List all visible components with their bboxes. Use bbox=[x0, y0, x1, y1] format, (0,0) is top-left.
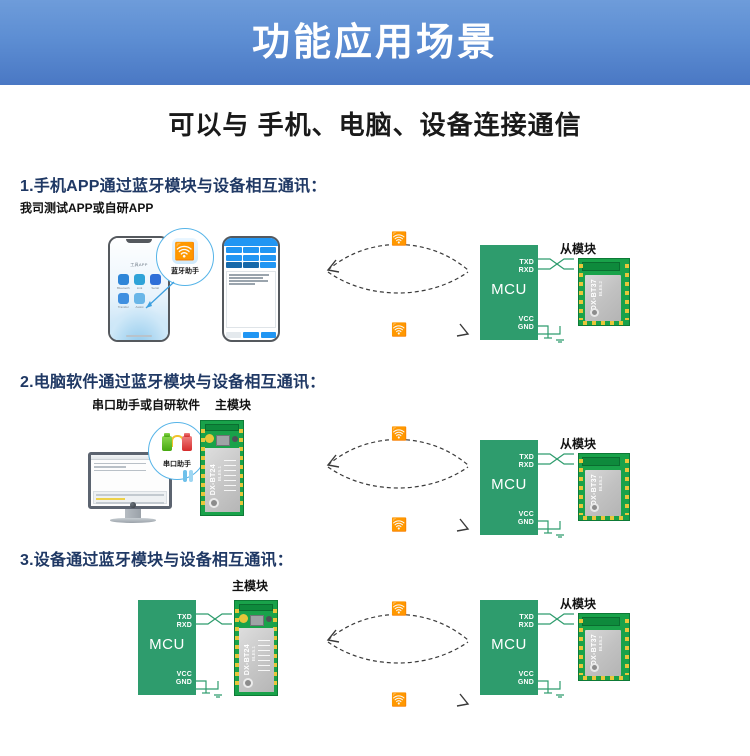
mcu-pin-txd: TXD bbox=[519, 614, 534, 622]
section-1-heading: 1.手机APP通过蓝牙模块与设备相互通讯： bbox=[20, 172, 326, 196]
mcu-pin-gnd: GND bbox=[518, 324, 534, 332]
phone-app-button[interactable] bbox=[226, 262, 242, 268]
mcu-block-3-left: MCU TXD RXD VCC GND bbox=[138, 600, 196, 695]
page-title: 功能应用场景 bbox=[252, 24, 498, 62]
module-shield-can: DX-BT37 BLE5.2 bbox=[585, 470, 621, 516]
app-tile-icon bbox=[118, 293, 129, 304]
phone-app-button[interactable] bbox=[243, 255, 259, 261]
phone-app-header-bar bbox=[224, 238, 278, 246]
ble-module-dx-bt37: DX-BT37 BLE5.2 bbox=[578, 258, 630, 326]
log-line bbox=[229, 280, 268, 282]
module-ble-version: BLE5.2 bbox=[598, 281, 603, 296]
pcb-pads-left bbox=[579, 459, 583, 514]
uart-cross-wires-1 bbox=[538, 257, 574, 273]
module-brand-logo-icon bbox=[209, 498, 219, 508]
phone-app-icon-bluetooth[interactable]: Bluetooth bbox=[117, 274, 130, 290]
pcb-chip bbox=[216, 435, 230, 446]
bluetooth-icon: 🛜 bbox=[391, 602, 407, 615]
control-row bbox=[96, 494, 164, 496]
slave-module-label: 从模块 bbox=[560, 595, 596, 612]
usb-prong-left bbox=[183, 470, 187, 482]
module-brand-logo-icon bbox=[243, 678, 253, 688]
phone-app-icon-transfer[interactable]: Transfer bbox=[117, 293, 130, 309]
bluetooth-app-icon: 🛜 bbox=[172, 238, 198, 264]
bluetooth-assistant-caption: 蓝牙助手 bbox=[171, 266, 199, 276]
bluetooth-icon: 🛜 bbox=[174, 243, 195, 260]
pcb-pads-bottom bbox=[583, 516, 625, 520]
page-header-banner: 功能应用场景 bbox=[0, 0, 750, 85]
section-2-heading: 2.电脑软件通过蓝牙模块与设备相互通讯： bbox=[20, 368, 325, 392]
ble-module-dx-bt37: DX-BT37 BLE5.2 bbox=[578, 613, 630, 681]
phone-app-send-button[interactable] bbox=[243, 332, 258, 338]
section-2-sub-label-right: 主模块 bbox=[215, 396, 251, 413]
mcu-pin-txd: TXD bbox=[519, 454, 534, 462]
plug-green bbox=[162, 436, 172, 451]
mcu-label: MCU bbox=[480, 281, 538, 298]
antenna-feed-point bbox=[239, 614, 248, 623]
mcu-label: MCU bbox=[480, 636, 538, 653]
pcb-pads-right bbox=[625, 619, 629, 674]
bluetooth-icon: 🛜 bbox=[391, 427, 407, 440]
monitor-power-indicator bbox=[130, 502, 136, 508]
phone-app-button[interactable] bbox=[260, 247, 276, 253]
module-shield-can: DX-BT24 BLE5.1 bbox=[205, 448, 240, 512]
mcu-pin-vcc: VCC bbox=[519, 511, 534, 519]
mcu-pin-gnd: GND bbox=[176, 679, 192, 687]
usb-connector-icon bbox=[183, 470, 193, 482]
power-ground-symbols-3-right bbox=[538, 675, 578, 697]
bluetooth-icon: 🛜 bbox=[391, 518, 407, 531]
mcu-pin-rxd: RXD bbox=[519, 267, 534, 275]
module-brand-logo-icon bbox=[590, 663, 599, 672]
module-part-number: DX-BT37 bbox=[591, 634, 598, 665]
slave-module-label: 从模块 bbox=[560, 240, 596, 257]
app-tile-icon bbox=[118, 274, 129, 285]
text-line bbox=[94, 466, 126, 467]
mcu-label: MCU bbox=[138, 636, 196, 653]
ble-module-dx-bt24: DX-BT24 BLE5.1 bbox=[200, 420, 244, 516]
bluetooth-icon: 🛜 bbox=[391, 323, 407, 336]
phone-app-log-area bbox=[226, 271, 276, 328]
pcb-component bbox=[266, 616, 272, 622]
section-2-sub-label-left: 串口助手或自研软件 bbox=[92, 396, 200, 413]
pcb-pads-bottom bbox=[583, 321, 625, 325]
mcu-pin-gnd: GND bbox=[518, 519, 534, 527]
mcu-pin-rxd: RXD bbox=[519, 462, 534, 470]
pcb-component bbox=[232, 436, 238, 442]
power-ground-symbols-3-left bbox=[196, 675, 236, 697]
serial-assistant-callout: 串口助手 bbox=[148, 422, 206, 480]
section-1-sub-label: 我司测试APP或自研APP bbox=[20, 199, 153, 216]
mcu-block-2: MCU TXD RXD VCC GND bbox=[480, 440, 538, 535]
phone-app-input-field[interactable] bbox=[226, 332, 241, 338]
phone-notch bbox=[126, 239, 152, 243]
module-part-number: DX-BT24 bbox=[210, 464, 217, 495]
module-shield-can: DX-BT24 BLE5.1 bbox=[239, 628, 274, 692]
section-3-heading: 3.设备通过蓝牙模块与设备相互通讯： bbox=[20, 546, 293, 570]
mcu-pin-gnd: GND bbox=[518, 679, 534, 687]
module-label-fineprint bbox=[258, 640, 270, 674]
control-row-highlight bbox=[96, 498, 125, 500]
section-3-master-label: 主模块 bbox=[232, 577, 268, 594]
log-line bbox=[229, 283, 255, 285]
page-subtitle: 可以与 手机、电脑、设备连接通信 bbox=[0, 105, 750, 142]
bluetooth-assistant-callout: 🛜 蓝牙助手 bbox=[156, 228, 214, 286]
module-shield-can: DX-BT37 BLE5.2 bbox=[585, 630, 621, 676]
mcu-pin-vcc: VCC bbox=[519, 316, 534, 324]
plug-red bbox=[182, 436, 192, 451]
log-line bbox=[229, 274, 269, 276]
usb-prong-right bbox=[189, 470, 193, 482]
callout-pointer-line bbox=[138, 280, 178, 320]
pcb-pads-right bbox=[625, 459, 629, 514]
serial-assistant-caption: 串口助手 bbox=[163, 459, 191, 469]
uart-cross-wires-3-left bbox=[196, 612, 232, 628]
pcb-pads-right bbox=[625, 264, 629, 319]
module-brand-logo-icon bbox=[590, 308, 599, 317]
phone-app-button-grid bbox=[226, 247, 276, 268]
phone-app-label: Transfer bbox=[117, 305, 130, 309]
phone-app-button[interactable] bbox=[260, 255, 276, 261]
module-ble-version: BLE5.1 bbox=[217, 466, 222, 481]
pcb-antenna-strip bbox=[205, 424, 239, 431]
mcu-pin-vcc: VCC bbox=[519, 671, 534, 679]
pcb-chip bbox=[250, 615, 264, 626]
pcb-pads-left bbox=[579, 619, 583, 674]
ble-module-dx-bt24: DX-BT24 BLE5.1 bbox=[234, 600, 278, 696]
serial-plug-icon bbox=[162, 433, 192, 457]
pcb-antenna-strip bbox=[239, 604, 273, 611]
phone-app-extra-button[interactable] bbox=[261, 332, 276, 338]
power-ground-symbols-1 bbox=[538, 320, 578, 342]
pcb-antenna-strip bbox=[582, 457, 620, 466]
module-brand-logo-icon bbox=[590, 503, 599, 512]
bluetooth-icon: 🛜 bbox=[391, 232, 407, 245]
mcu-pin-txd: TXD bbox=[177, 614, 192, 622]
log-line bbox=[229, 277, 263, 279]
phone-app-button[interactable] bbox=[226, 255, 242, 261]
pcb-antenna-strip bbox=[582, 262, 620, 271]
module-part-number: DX-BT24 bbox=[244, 644, 251, 675]
ble-module-dx-bt37: DX-BT37 BLE5.2 bbox=[578, 453, 630, 521]
mcu-pin-rxd: RXD bbox=[519, 622, 534, 630]
application-scenario-page: 功能应用场景 可以与 手机、电脑、设备连接通信 1.手机APP通过蓝牙模块与设备… bbox=[0, 0, 750, 756]
pcb-pads-left bbox=[579, 264, 583, 319]
phone-app-footer bbox=[226, 331, 276, 338]
phone-app-label: Bluetooth bbox=[117, 286, 130, 290]
module-part-number: DX-BT37 bbox=[591, 279, 598, 310]
phone-app-button[interactable] bbox=[226, 247, 242, 253]
antenna-feed-point bbox=[205, 434, 214, 443]
phone-app-screen[interactable] bbox=[222, 236, 280, 342]
bluetooth-link-arrows-2: 🛜 🛜 bbox=[318, 425, 478, 535]
uart-cross-wires-3-right bbox=[538, 612, 574, 628]
phone-app-button[interactable] bbox=[243, 262, 259, 268]
mcu-label: MCU bbox=[480, 476, 538, 493]
mcu-pin-rxd: RXD bbox=[177, 622, 192, 630]
mcu-block-3-right: MCU TXD RXD VCC GND bbox=[480, 600, 538, 695]
module-ble-version: BLE5.2 bbox=[598, 476, 603, 491]
uart-cross-wires-2 bbox=[538, 452, 574, 468]
bluetooth-link-arrows-1: 🛜 🛜 bbox=[318, 230, 478, 340]
module-shield-can: DX-BT37 BLE5.2 bbox=[585, 275, 621, 321]
module-ble-version: BLE5.2 bbox=[598, 636, 603, 651]
monitor-stand-base bbox=[110, 518, 156, 523]
module-label-fineprint bbox=[224, 460, 236, 494]
power-ground-symbols-2 bbox=[538, 515, 578, 537]
mcu-pin-txd: TXD bbox=[519, 259, 534, 267]
phone-home-indicator bbox=[126, 335, 152, 337]
mcu-block-1: MCU TXD RXD VCC GND bbox=[480, 245, 538, 340]
module-ble-version: BLE5.1 bbox=[251, 646, 256, 661]
bluetooth-icon: 🛜 bbox=[391, 693, 407, 706]
text-line bbox=[94, 470, 146, 471]
slave-module-label: 从模块 bbox=[560, 435, 596, 452]
phone-app-button[interactable] bbox=[260, 262, 276, 268]
pcb-pads-bottom bbox=[583, 676, 625, 680]
phone-app-button[interactable] bbox=[243, 247, 259, 253]
pcb-antenna-strip bbox=[582, 617, 620, 626]
mcu-pin-vcc: VCC bbox=[177, 671, 192, 679]
module-part-number: DX-BT37 bbox=[591, 474, 598, 505]
text-line bbox=[94, 463, 146, 464]
bluetooth-link-arrows-3: 🛜 🛜 bbox=[318, 600, 478, 710]
